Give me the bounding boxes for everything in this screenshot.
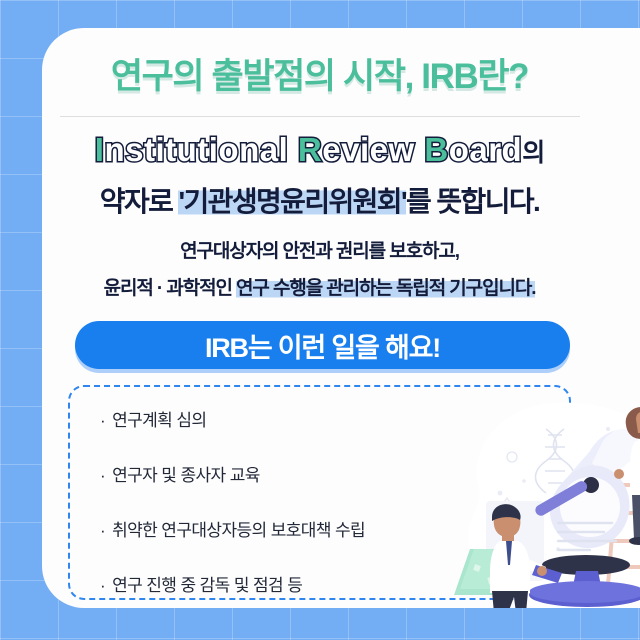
tasks-list: ·연구계획 심의 ·연구자 및 종사자 교육 ·취약한 연구대상자등의 보호대책… — [100, 406, 520, 608]
term-word-oard: oard — [449, 131, 523, 168]
content-card: 연구의 출발점의 시작, IRB란? Institutional Review … — [42, 28, 640, 608]
description-line2-prefix: 윤리적 · 과학적인 — [104, 278, 236, 299]
scientist-on-ladder — [614, 407, 640, 545]
description-line-1: 연구대상자의 안전과 권리를 보호하고, — [42, 236, 597, 263]
term-letter-i: I — [95, 131, 105, 168]
term-space-2 — [415, 131, 425, 168]
list-item-label: 연구 진행 중 감독 및 점검 등 — [112, 576, 302, 595]
bullet-marker-icon: · — [100, 466, 105, 485]
term-space-1 — [288, 131, 298, 168]
description-line2-highlight: 연구 수행을 관리하는 독립적 기구입니다. — [236, 278, 535, 299]
section-banner: IRB는 이런 일을 해요! — [75, 321, 570, 369]
microscope-neck — [572, 571, 602, 591]
title-divider — [60, 116, 580, 117]
ladder — [608, 461, 640, 585]
list-item: ·취약한 연구대상자등의 보호대책 수립 — [100, 516, 520, 541]
list-item-label: 취약한 연구대상자등의 보호대책 수립 — [112, 521, 365, 540]
bullet-marker-icon: · — [100, 521, 105, 540]
term-word-eview: eview — [322, 131, 414, 168]
term-suffix: 의 — [522, 139, 544, 167]
section-banner-label: IRB는 이런 일을 해요! — [205, 326, 440, 365]
bullet-marker-icon: · — [100, 411, 105, 430]
definition-term-line: Institutional Review Board의 — [42, 133, 597, 166]
abbrev-suffix: 를 뜻합니다. — [406, 186, 539, 217]
bullet-marker-icon: · — [100, 576, 105, 595]
term-word-nstitutional: nstitutional — [104, 131, 288, 168]
page-title: 연구의 출발점의 시작, IRB란? — [42, 48, 597, 99]
list-item: ·연구자 및 종사자 교육 — [100, 461, 520, 486]
list-item-label: 연구자 및 종사자 교육 — [112, 466, 260, 485]
abbrev-highlight: '기관생명윤리위원회' — [178, 186, 406, 217]
term-letter-b: B — [424, 131, 448, 168]
definition-abbrev-line: 약자로 '기관생명윤리위원회'를 뜻합니다. — [42, 180, 597, 220]
list-item: ·연구계획 심의 — [100, 406, 520, 431]
term-letter-r: R — [298, 131, 322, 168]
abbrev-prefix: 약자로 — [100, 186, 179, 217]
list-item-label: 연구계획 심의 — [112, 411, 206, 430]
description-line-2: 윤리적 · 과학적인 연구 수행을 관리하는 독립적 기구입니다. — [42, 273, 597, 300]
list-item: ·연구 진행 중 감독 및 점검 등 — [100, 571, 520, 596]
